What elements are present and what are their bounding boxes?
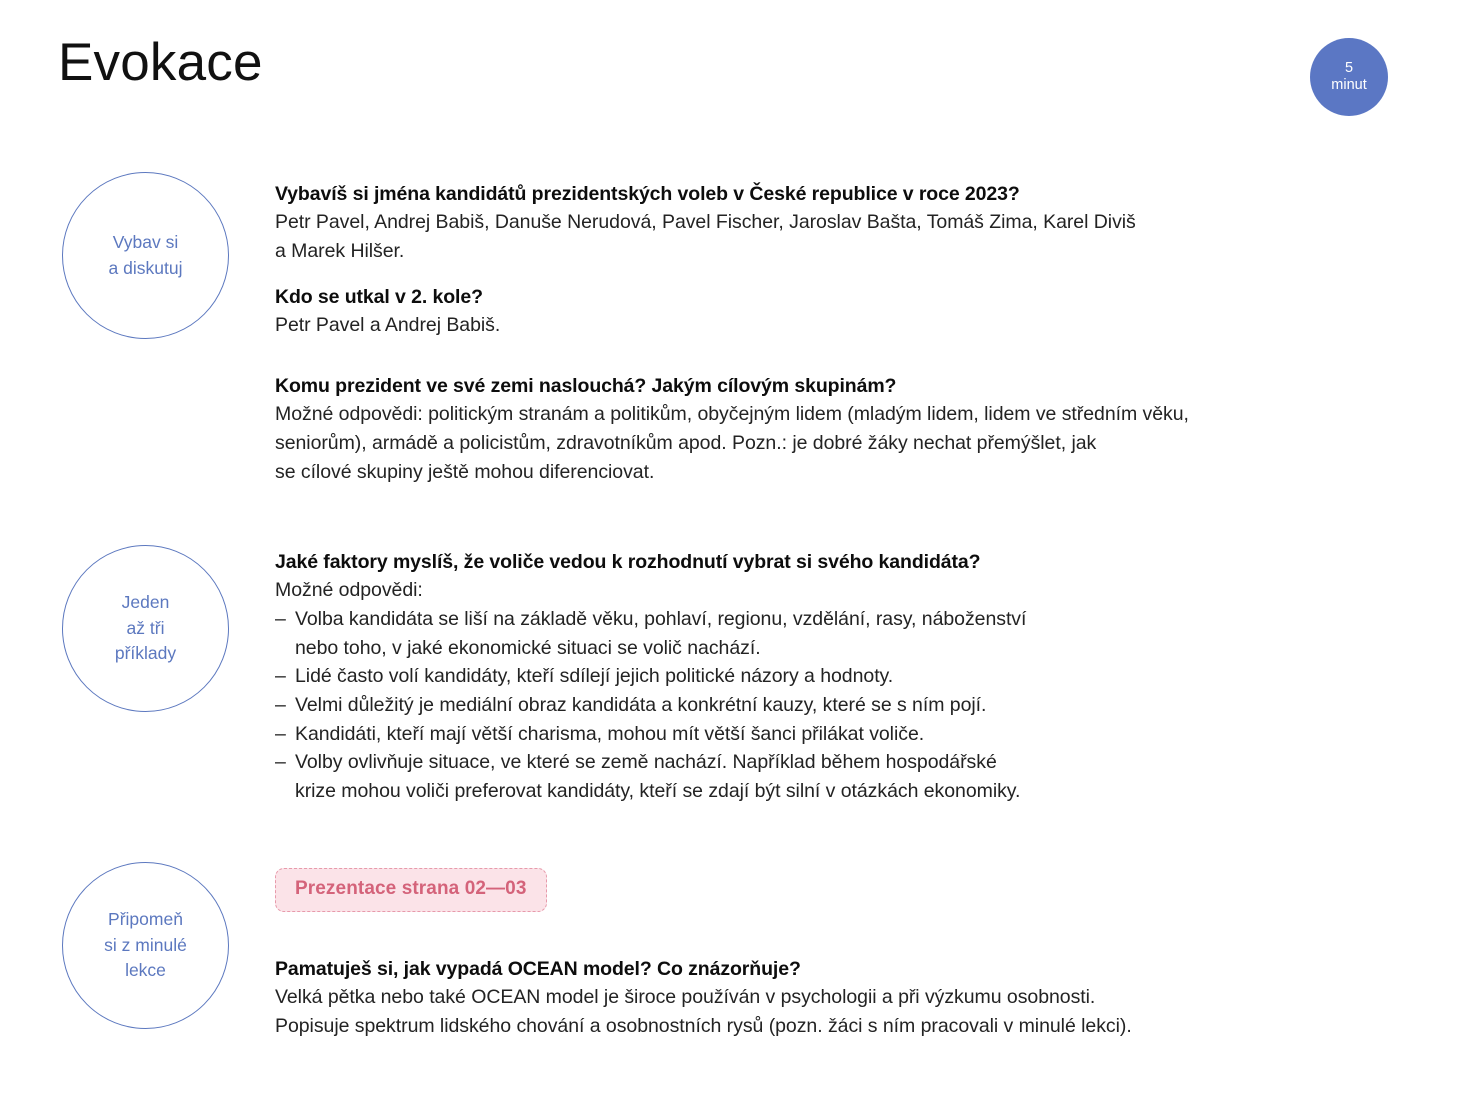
qa-block-candidates: Vybavíš si jména kandidátů prezidentskýc… [275, 180, 1425, 266]
list-item-line: Volby ovlivňuje situace, ve které se zem… [295, 748, 1425, 777]
stage-label-line: příklady [115, 641, 176, 666]
answer-text: Velká pětka nebo také OCEAN model je šir… [275, 983, 1425, 1012]
stage-label-line: si z minulé [104, 933, 187, 958]
list-item-line: krize mohou voliči preferovat kandidáty,… [295, 777, 1425, 806]
answer-text: Popisuje spektrum lidského chování a oso… [275, 1012, 1425, 1041]
bullet-dash-icon: – [275, 720, 295, 749]
stage-circle-vybav-si-a-diskutuj: Vybav si a diskutuj [62, 172, 229, 339]
answer-text: se cílové skupiny ještě mohou diferencio… [275, 458, 1425, 487]
page-title: Evokace [58, 34, 263, 92]
question-text: Jaké faktory myslíš, že voliče vedou k r… [275, 548, 1425, 576]
list-item-line: Velmi důležitý je mediální obraz kandidá… [295, 691, 1425, 720]
list-item: – Lidé často volí kandidáty, kteří sdíle… [275, 662, 1425, 691]
stage-label-line: Připomeň [108, 907, 183, 932]
time-badge-value: 5 [1345, 60, 1353, 77]
stage-label-line: Jeden [122, 590, 170, 615]
time-badge: 5 minut [1310, 38, 1388, 116]
stage-label-line: až tři [127, 616, 165, 641]
question-text: Kdo se utkal v 2. kole? [275, 283, 1425, 311]
answer-text: Petr Pavel, Andrej Babiš, Danuše Nerudov… [275, 208, 1425, 237]
stage-label-line: lekce [125, 958, 166, 983]
stage-label-line: a diskutuj [109, 256, 183, 281]
stage-circle-pripomen-si-z-minule-lekce: Připomeň si z minulé lekce [62, 862, 229, 1029]
list-item-text: Volby ovlivňuje situace, ve které se zem… [295, 748, 1425, 805]
bullet-dash-icon: – [275, 662, 295, 691]
list-item-line: Kandidáti, kteří mají větší charisma, mo… [295, 720, 1425, 749]
list-item-line: Lidé často volí kandidáty, kteří sdílejí… [295, 662, 1425, 691]
answer-text: seniorům), armádě a policistům, zdravotn… [275, 429, 1425, 458]
bullet-dash-icon: – [275, 748, 295, 805]
qa-block-voter-factors: Jaké faktory myslíš, že voliče vedou k r… [275, 548, 1425, 806]
answer-text: Petr Pavel a Andrej Babiš. [275, 311, 1425, 340]
bullet-dash-icon: – [275, 605, 295, 662]
answer-text: a Marek Hilšer. [275, 237, 1425, 266]
question-text: Komu prezident ve své zemi naslouchá? Ja… [275, 372, 1425, 400]
bullet-dash-icon: – [275, 691, 295, 720]
list-item: – Kandidáti, kteří mají větší charisma, … [275, 720, 1425, 749]
presentation-slide-tag[interactable]: Prezentace strana 02—03 [275, 868, 547, 912]
list-item-line: Volba kandidáta se liší na základě věku,… [295, 605, 1425, 634]
list-item-text: Volba kandidáta se liší na základě věku,… [295, 605, 1425, 662]
list-item: – Velmi důležitý je mediální obraz kandi… [275, 691, 1425, 720]
qa-block-second-round: Kdo se utkal v 2. kole? Petr Pavel a And… [275, 283, 1425, 340]
stage-label-line: Vybav si [113, 230, 179, 255]
question-text: Pamatuješ si, jak vypadá OCEAN model? Co… [275, 955, 1425, 983]
list-item: – Volba kandidáta se liší na základě věk… [275, 605, 1425, 662]
qa-block-target-groups: Komu prezident ve své zemi naslouchá? Ja… [275, 372, 1425, 486]
list-item-text: Velmi důležitý je mediální obraz kandidá… [295, 691, 1425, 720]
question-text: Vybavíš si jména kandidátů prezidentskýc… [275, 180, 1425, 208]
answer-text: Možné odpovědi: politickým stranám a pol… [275, 400, 1425, 429]
qa-block-ocean-model: Pamatuješ si, jak vypadá OCEAN model? Co… [275, 955, 1425, 1041]
answer-intro: Možné odpovědi: [275, 576, 1425, 605]
stage-circle-jeden-az-tri-priklady: Jeden až tři příklady [62, 545, 229, 712]
list-item: – Volby ovlivňuje situace, ve které se z… [275, 748, 1425, 805]
list-item-text: Lidé často volí kandidáty, kteří sdílejí… [295, 662, 1425, 691]
time-badge-unit: minut [1331, 77, 1366, 94]
list-item-text: Kandidáti, kteří mají větší charisma, mo… [295, 720, 1425, 749]
list-item-line: nebo toho, v jaké ekonomické situaci se … [295, 634, 1425, 663]
